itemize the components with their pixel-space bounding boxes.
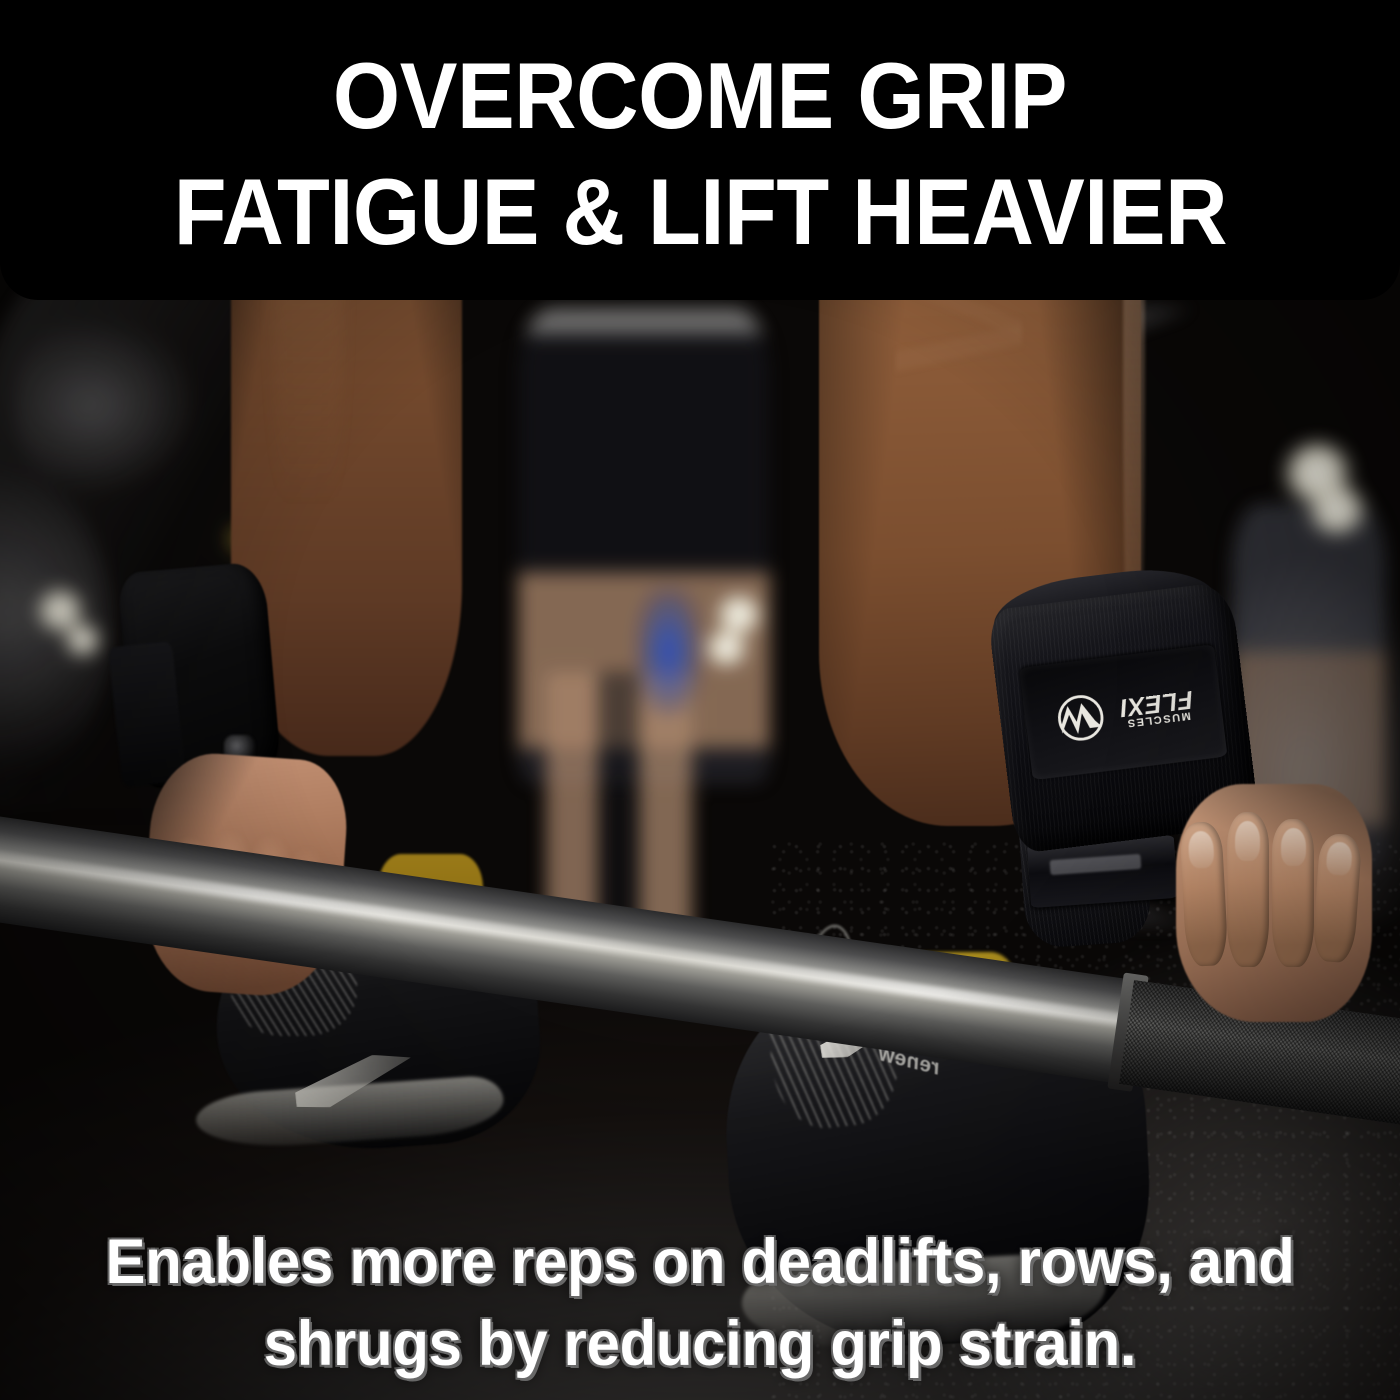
background-blue-shoe: [637, 588, 700, 714]
brand-wordmark: MUSCLES FLEXI: [1118, 688, 1195, 730]
ad-creative: renew MUSCLES FLEXI: [0, 0, 1400, 1400]
finger: [1179, 821, 1228, 967]
headline-banner: OVERCOME GRIP FATIGUE & LIFT HEAVIER: [0, 0, 1400, 300]
subtitle-text: Enables more reps on deadlifts, rows, an…: [35, 1222, 1365, 1386]
background-dumbbells: [14, 308, 210, 504]
headline-line-2: FATIGUE & LIFT HEAVIER: [173, 165, 1226, 259]
fingernail: [1235, 821, 1260, 861]
background-light-6: [63, 623, 102, 657]
headline-line-1: OVERCOME GRIP: [333, 49, 1067, 143]
fingernail: [1281, 828, 1306, 866]
brand-logo-plate: MUSCLES FLEXI: [1019, 645, 1227, 781]
lifter-right-hand-fingers: [1183, 812, 1365, 980]
fingernail: [1326, 841, 1353, 876]
fingernail: [1188, 830, 1215, 869]
finger: [1227, 812, 1269, 967]
flexi-muscles-w-circle-logo-icon: [1049, 687, 1111, 749]
finger: [1311, 833, 1362, 963]
background-light-2: [1305, 484, 1369, 534]
finger: [1272, 819, 1314, 967]
